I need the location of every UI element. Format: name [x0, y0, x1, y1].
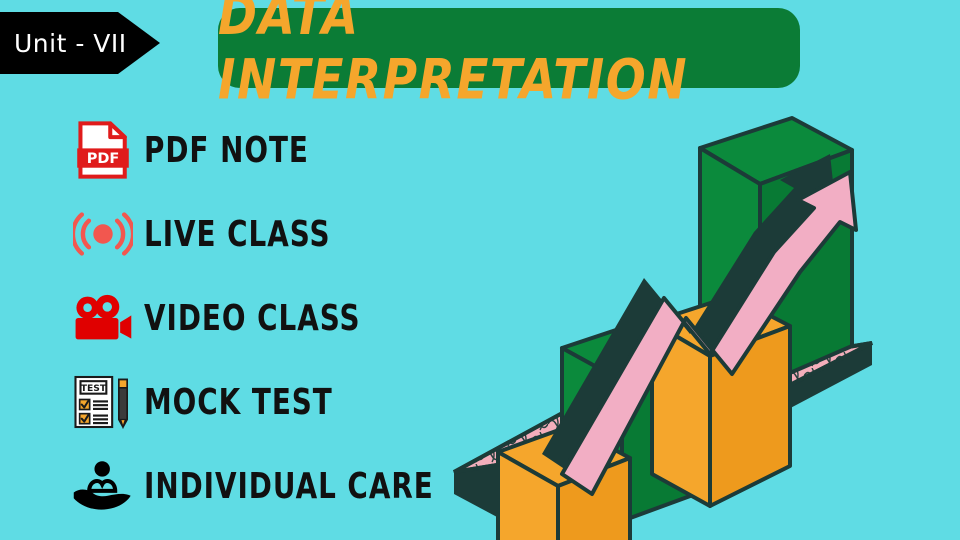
feature-item-individual-care[interactable]: INDIVIDUAL CARE	[66, 444, 466, 528]
feature-item-video-class[interactable]: VIDEO CLASS	[66, 276, 466, 360]
feature-label-live-class: LIVE CLASS	[144, 213, 331, 254]
feature-label-individual-care: INDIVIDUAL CARE	[144, 465, 434, 506]
feature-item-live-class[interactable]: LIVE CLASS	[66, 192, 466, 276]
pdf-file-icon: PDF	[66, 113, 140, 187]
title-banner: DATA INTERPRETATION	[218, 8, 800, 88]
pdf-icon-label: PDF	[87, 151, 120, 167]
unit-tag-label: Unit - VII	[14, 29, 127, 58]
unit-tag: Unit - VII	[0, 12, 160, 74]
live-broadcast-icon	[66, 197, 140, 271]
test-icon-label: TEST	[81, 383, 107, 394]
video-camera-icon	[66, 281, 140, 355]
isometric-bar-chart	[452, 96, 960, 540]
hand-care-icon	[66, 449, 140, 523]
feature-list: PDF PDF NOTE LIVE CLASS	[66, 108, 466, 528]
feature-label-pdf-note: PDF NOTE	[144, 129, 309, 170]
test-clipboard-icon: TEST	[66, 365, 140, 439]
feature-label-video-class: VIDEO CLASS	[144, 297, 361, 338]
feature-item-pdf-note[interactable]: PDF PDF NOTE	[66, 108, 466, 192]
feature-item-mock-test[interactable]: TEST MOCK TEST	[66, 360, 466, 444]
slide-canvas: Unit - VII DATA INTERPRETATION PDF PDF N…	[0, 0, 960, 540]
feature-label-mock-test: MOCK TEST	[144, 381, 333, 422]
